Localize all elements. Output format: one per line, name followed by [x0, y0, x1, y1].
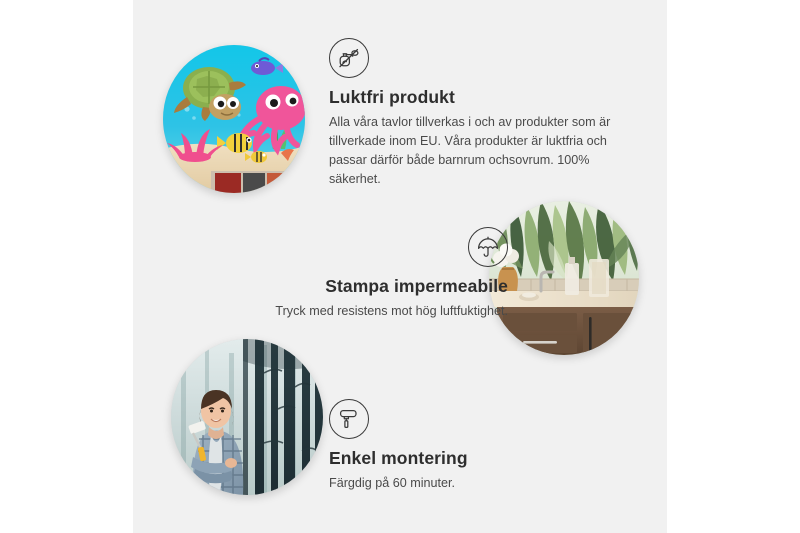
feature-title: Enkel montering	[329, 448, 629, 469]
feature-body: Tryck med resistens mot hög luftfuktighe…	[208, 302, 508, 321]
decorator-forest-photo	[171, 339, 323, 495]
feature-block-odour-free: Luktfri produkt Alla våra tavlor tillver…	[329, 38, 629, 190]
umbrella-icon	[468, 227, 508, 267]
feature-body: Färgdig på 60 minuter.	[329, 474, 629, 493]
feature-block-easy-installation: Enkel montering Färgdig på 60 minuter.	[329, 399, 629, 493]
page-background: Luktfri produkt Alla våra tavlor tillver…	[0, 0, 800, 533]
paint-roller-icon	[329, 399, 369, 439]
feature-block-waterproof-print: Stampa impermeabile Tryck med resistens …	[208, 227, 508, 321]
bathroom-botanical-wallpaper-photo	[489, 201, 639, 355]
feature-panel: Luktfri produkt Alla våra tavlor tillver…	[133, 0, 667, 533]
no-fragrance-icon	[329, 38, 369, 78]
underwater-cartoon-photo	[163, 45, 305, 193]
feature-title: Stampa impermeabile	[208, 276, 508, 297]
feature-body: Alla våra tavlor tillverkas i och av pro…	[329, 113, 629, 190]
feature-title: Luktfri produkt	[329, 87, 629, 108]
